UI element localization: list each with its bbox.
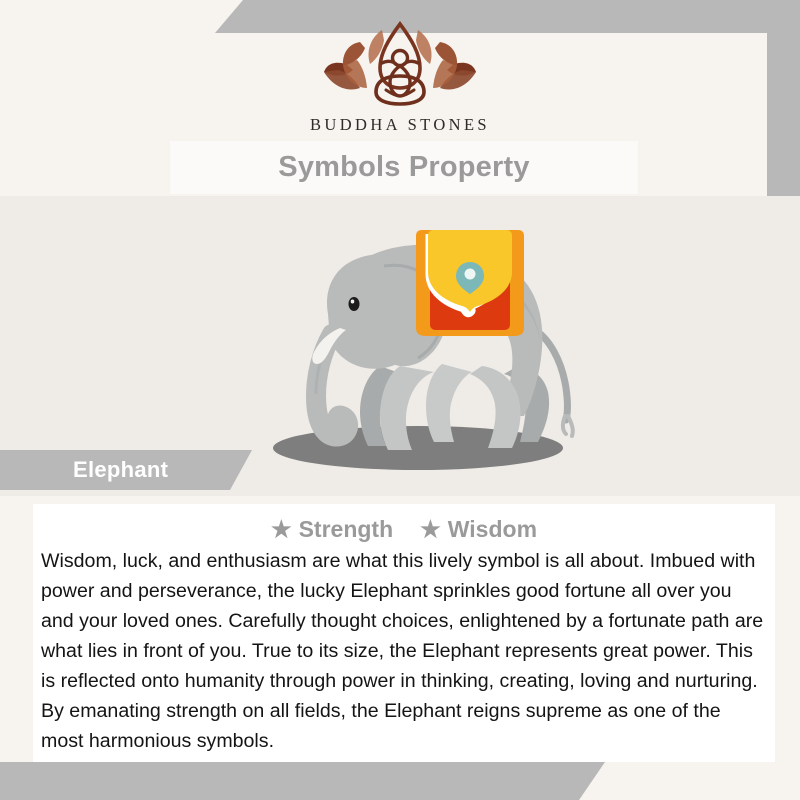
page-title-banner: Symbols Property [170, 141, 638, 194]
brand-name: BUDDHA STONES [310, 115, 490, 135]
trait-list: ★ Strength ★ Wisdom [39, 512, 769, 546]
symbol-name: Elephant [73, 457, 168, 483]
star-icon: ★ [271, 518, 292, 541]
lotus-meditation-icon [312, 18, 488, 110]
walking-elephant-illustration [232, 216, 588, 484]
elephant-eye [349, 297, 360, 311]
trait-strength-label: Strength [299, 516, 394, 543]
trait-wisdom-label: Wisdom [448, 516, 537, 543]
page-title: Symbols Property [278, 151, 529, 184]
description-panel: ★ Strength ★ Wisdom Wisdom, luck, and en… [33, 504, 775, 762]
symbol-name-banner: Elephant [0, 450, 252, 490]
brand-logo: BUDDHA STONES [0, 18, 800, 135]
star-icon: ★ [420, 518, 441, 541]
symbol-description: Wisdom, luck, and enthusiasm are what th… [39, 546, 769, 756]
trait-wisdom: ★ Wisdom [420, 516, 537, 543]
symbol-property-card: BUDDHA STONES Symbols Property [0, 0, 800, 800]
trait-strength: ★ Strength [271, 516, 393, 543]
accent-bar-bottom [0, 762, 605, 800]
